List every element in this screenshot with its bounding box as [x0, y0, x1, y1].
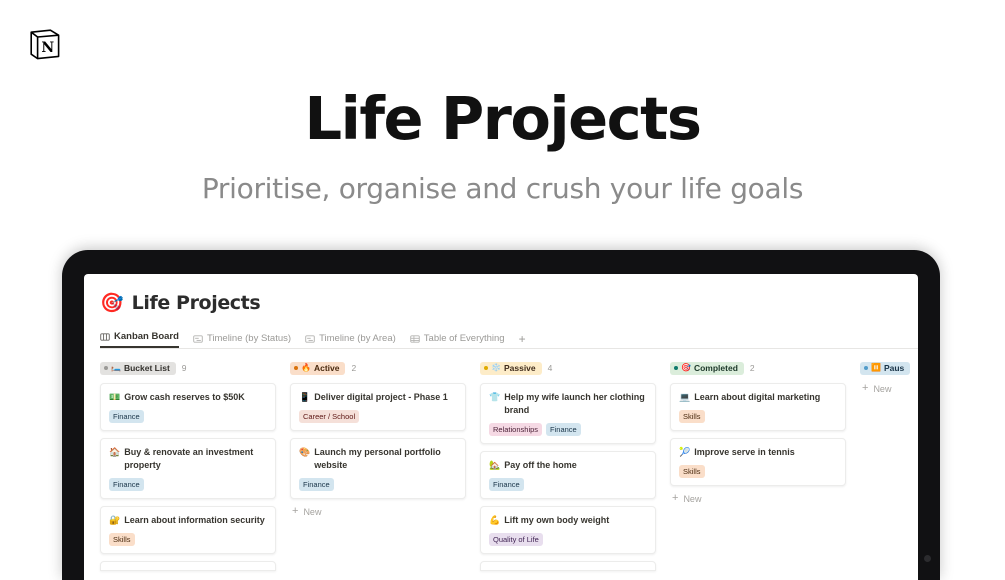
board-card[interactable]: 🎨Launch my personal portfolio websiteFin…: [290, 438, 466, 499]
kanban-board-icon: [100, 332, 110, 342]
notion-logo-letter: N: [41, 40, 54, 56]
column-name: Bucket List: [124, 363, 170, 374]
card-tag-list: Finance: [489, 478, 647, 491]
column-status-badge: 🔥Active: [290, 362, 345, 375]
card-tag-list: Finance: [109, 478, 267, 491]
column-header[interactable]: ⏸️Paus: [860, 361, 918, 375]
device-screen: 🎯 Life Projects Kanban Board Timeline (b…: [84, 274, 918, 580]
target-icon: 🎯: [100, 294, 124, 313]
column-emoji-icon: 🔥: [301, 364, 311, 372]
notion-page: 🎯 Life Projects Kanban Board Timeline (b…: [84, 274, 918, 580]
card-tag: Skills: [679, 465, 705, 478]
tab-label: Timeline (by Status): [207, 333, 291, 344]
card-tag-list: Skills: [109, 533, 267, 546]
column-status-badge: ❄️Passive: [480, 362, 542, 375]
card-title: Learn about information security: [124, 514, 265, 527]
status-dot-icon: [484, 366, 488, 370]
hero-section: Life Projects Prioritise, organise and c…: [0, 84, 1005, 206]
column-count: 4: [548, 363, 553, 373]
plus-icon: +: [672, 493, 678, 504]
notion-logo-icon: N: [28, 28, 62, 62]
card-tag-list: Skills: [679, 465, 837, 478]
column-header[interactable]: 🛏️Bucket List9: [100, 361, 290, 375]
card-tag-list: Skills: [679, 410, 837, 423]
card-tag: Quality of Life: [489, 533, 543, 546]
card-emoji-icon: 🔐: [109, 514, 120, 527]
board-card[interactable]: 🏡Pay off the homeFinance: [480, 451, 656, 499]
tab-label: Timeline (by Area): [319, 333, 396, 344]
card-tag: Finance: [489, 478, 524, 491]
card-title: Buy & renovate an investment property: [124, 446, 267, 472]
status-dot-icon: [864, 366, 868, 370]
card-tag-list: Quality of Life: [489, 533, 647, 546]
tab-timeline-by-status[interactable]: Timeline (by Status): [193, 333, 291, 348]
add-card-label: New: [873, 384, 891, 394]
status-dot-icon: [104, 366, 108, 370]
board-card[interactable]: [480, 561, 656, 571]
add-view-button[interactable]: +: [519, 334, 526, 348]
card-title: Improve serve in tennis: [694, 446, 795, 459]
column-count: 2: [351, 363, 356, 373]
column-emoji-icon: ❄️: [491, 364, 501, 372]
card-emoji-icon: 💪: [489, 514, 500, 527]
device-camera-icon: [924, 555, 931, 562]
column-name: Completed: [694, 363, 738, 374]
notion-page-header: 🎯 Life Projects: [100, 290, 918, 316]
column-name: Active: [314, 363, 340, 374]
board-card[interactable]: 📱Deliver digital project - Phase 1Career…: [290, 383, 466, 431]
card-emoji-icon: 🎾: [679, 446, 690, 459]
column-header[interactable]: 🎯Completed2: [670, 361, 860, 375]
card-title-row: 💻Learn about digital marketing: [679, 391, 837, 404]
status-dot-icon: [674, 366, 678, 370]
plus-icon: +: [862, 383, 868, 394]
notion-page-title: Life Projects: [132, 292, 261, 314]
board-column: ⏸️Paus+New: [860, 361, 918, 580]
plus-icon: +: [292, 506, 298, 517]
card-title-row: 🏠Buy & renovate an investment property: [109, 446, 267, 472]
column-count: 2: [750, 363, 755, 373]
card-title: Deliver digital project - Phase 1: [314, 391, 448, 404]
add-card-button[interactable]: +New: [860, 383, 918, 394]
card-title: Launch my personal portfolio website: [314, 446, 457, 472]
tab-table-of-everything[interactable]: Table of Everything: [410, 333, 505, 348]
timeline-icon: [193, 334, 203, 344]
tab-kanban-board[interactable]: Kanban Board: [100, 331, 179, 348]
card-tag: Skills: [109, 533, 135, 546]
card-title-row: 👕Help my wife launch her clothing brand: [489, 391, 647, 417]
card-tag: Finance: [546, 423, 581, 436]
tab-label: Kanban Board: [114, 331, 179, 342]
card-emoji-icon: 💻: [679, 391, 690, 404]
card-tag: Skills: [679, 410, 705, 423]
card-title: Help my wife launch her clothing brand: [504, 391, 647, 417]
column-name: Passive: [504, 363, 536, 374]
column-header[interactable]: ❄️Passive4: [480, 361, 670, 375]
column-count: 9: [182, 363, 187, 373]
board-column: 🎯Completed2💻Learn about digital marketin…: [670, 361, 860, 580]
add-card-button[interactable]: +New: [290, 506, 480, 517]
device-mockup: 🎯 Life Projects Kanban Board Timeline (b…: [62, 250, 940, 580]
card-emoji-icon: 👕: [489, 391, 500, 404]
card-title-row: 💪Lift my own body weight: [489, 514, 647, 527]
card-emoji-icon: 🏠: [109, 446, 120, 459]
add-card-label: New: [683, 494, 701, 504]
card-tag-list: Finance: [109, 410, 267, 423]
board-card[interactable]: 🔐Learn about information securitySkills: [100, 506, 276, 554]
column-header[interactable]: 🔥Active2: [290, 361, 480, 375]
board-card[interactable]: 💪Lift my own body weightQuality of Life: [480, 506, 656, 554]
column-emoji-icon: 🛏️: [111, 364, 121, 372]
card-title-row: 📱Deliver digital project - Phase 1: [299, 391, 457, 404]
card-emoji-icon: 📱: [299, 391, 310, 404]
card-title: Pay off the home: [504, 459, 577, 472]
card-title-row: 🏡Pay off the home: [489, 459, 647, 472]
card-title: Learn about digital marketing: [694, 391, 820, 404]
board-column: ❄️Passive4👕Help my wife launch her cloth…: [480, 361, 670, 580]
card-emoji-icon: 💵: [109, 391, 120, 404]
card-title-row: 🎨Launch my personal portfolio website: [299, 446, 457, 472]
card-tag: Relationships: [489, 423, 542, 436]
card-emoji-icon: 🏡: [489, 459, 500, 472]
column-emoji-icon: 🎯: [681, 364, 691, 372]
card-tag-list: RelationshipsFinance: [489, 423, 647, 436]
card-tag: Finance: [109, 410, 144, 423]
card-title-row: 🎾Improve serve in tennis: [679, 446, 837, 459]
column-status-badge: ⏸️Paus: [860, 362, 910, 375]
board-card[interactable]: 👕Help my wife launch her clothing brandR…: [480, 383, 656, 444]
column-name: Paus: [884, 363, 904, 374]
card-title: Grow cash reserves to $50K: [124, 391, 245, 404]
kanban-board: 🛏️Bucket List9💵Grow cash reserves to $50…: [100, 361, 918, 580]
board-column: 🛏️Bucket List9💵Grow cash reserves to $50…: [100, 361, 290, 580]
page-title: Life Projects: [0, 84, 1005, 154]
timeline-icon: [305, 334, 315, 344]
card-tag-list: Finance: [299, 478, 457, 491]
column-status-badge: 🛏️Bucket List: [100, 362, 176, 375]
board-card[interactable]: 💻Learn about digital marketingSkills: [670, 383, 846, 431]
card-tag: Career / School: [299, 410, 359, 423]
table-icon: [410, 334, 420, 344]
tab-label: Table of Everything: [424, 333, 505, 344]
card-title-row: 🔐Learn about information security: [109, 514, 267, 527]
card-tag: Finance: [109, 478, 144, 491]
board-card[interactable]: 🎾Improve serve in tennisSkills: [670, 438, 846, 486]
column-emoji-icon: ⏸️: [871, 364, 881, 372]
tab-timeline-by-area[interactable]: Timeline (by Area): [305, 333, 396, 348]
card-title: Lift my own body weight: [504, 514, 609, 527]
card-tag-list: Career / School: [299, 410, 457, 423]
board-card[interactable]: [100, 561, 276, 571]
column-status-badge: 🎯Completed: [670, 362, 744, 375]
view-tabs: Kanban Board Timeline (by Status) Timeli…: [100, 326, 918, 349]
board-column: 🔥Active2📱Deliver digital project - Phase…: [290, 361, 480, 580]
board-card[interactable]: 🏠Buy & renovate an investment propertyFi…: [100, 438, 276, 499]
page-subtitle: Prioritise, organise and crush your life…: [0, 172, 1005, 206]
add-card-button[interactable]: +New: [670, 493, 860, 504]
status-dot-icon: [294, 366, 298, 370]
card-title-row: 💵Grow cash reserves to $50K: [109, 391, 267, 404]
card-tag: Finance: [299, 478, 334, 491]
card-emoji-icon: 🎨: [299, 446, 310, 459]
board-card[interactable]: 💵Grow cash reserves to $50KFinance: [100, 383, 276, 431]
add-card-label: New: [303, 507, 321, 517]
